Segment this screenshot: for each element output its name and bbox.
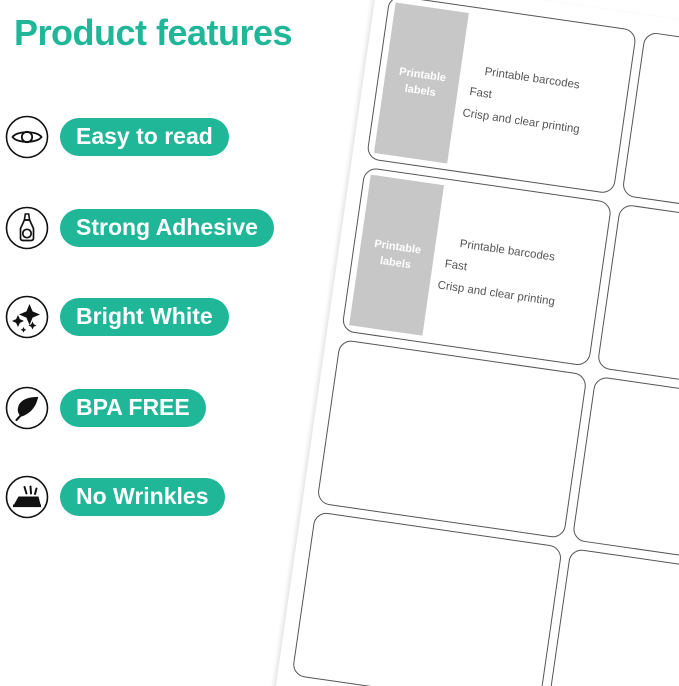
feature-pill-label: No Wrinkles (60, 478, 225, 516)
sparkle-icon (4, 294, 50, 340)
printable-labels-line2: labels (379, 253, 412, 274)
feature-pill-label: Bright White (60, 298, 229, 336)
printable-labels-block: Printable labels (349, 175, 444, 336)
feature-row-easy-to-read: Easy to read (4, 113, 229, 161)
printable-labels-line2: labels (404, 81, 437, 102)
leaf-icon (4, 385, 50, 431)
label-cell-blank (597, 204, 679, 404)
label-printed-lines: Printable barcodes Fast Crisp and clear … (440, 232, 562, 313)
feature-row-bpa-free: BPA FREE (4, 384, 206, 432)
iron-press-icon (4, 474, 50, 520)
eye-icon (4, 114, 50, 160)
label-cell-printed: Printable labels Printable barcodes Fast… (341, 167, 612, 367)
label-cell-blank (547, 548, 679, 686)
label-cell-printed: Printable labels Printable barcodes Fast… (366, 0, 637, 194)
feature-row-strong-adhesive: Strong Adhesive (4, 204, 274, 252)
feature-row-no-wrinkles: No Wrinkles (4, 473, 225, 521)
feature-pill-label: Easy to read (60, 118, 229, 156)
product-features-image: Printable labels Printable barcodes Fast… (0, 0, 679, 686)
feature-pill-label: Strong Adhesive (60, 209, 274, 247)
printable-labels-block: Printable labels (374, 2, 469, 163)
glue-bottle-icon (4, 205, 50, 251)
label-cell-blank (572, 376, 679, 576)
page-title: Product features (14, 12, 292, 54)
features-panel: Product features Easy to read Strong Adh… (0, 0, 360, 686)
label-printed-lines: Printable barcodes Fast Crisp and clear … (465, 60, 587, 141)
feature-row-bright-white: Bright White (4, 293, 229, 341)
feature-pill-label: BPA FREE (60, 389, 206, 427)
